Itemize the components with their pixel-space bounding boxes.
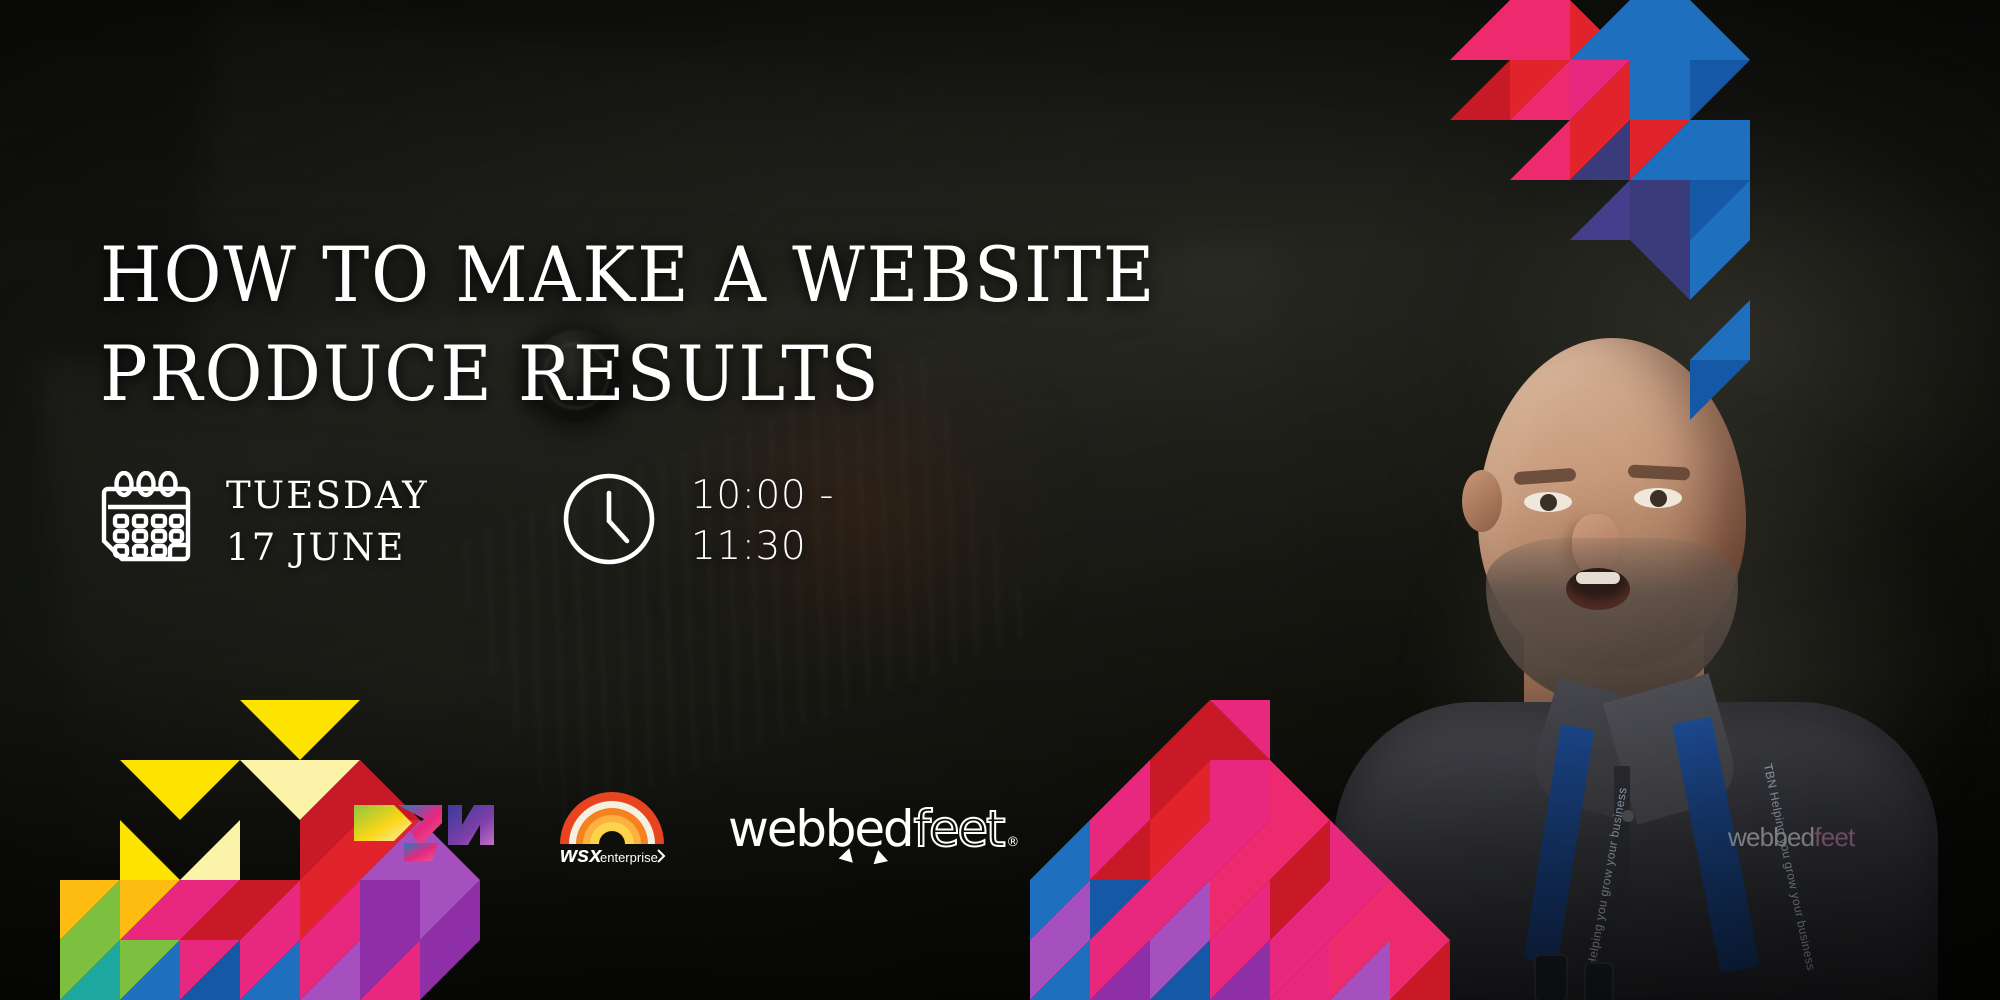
mosaic-triangle (1270, 880, 1330, 940)
mosaic-triangle (1330, 940, 1390, 1000)
mosaic-triangle (1030, 880, 1090, 940)
event-meta: TUESDAY 17 JUNE 10:00 - 11:30 (100, 470, 834, 574)
mosaic-triangle (1150, 760, 1210, 820)
mosaic-triangle (180, 880, 240, 940)
mosaic-cell (1690, 0, 1750, 60)
mosaic-triangle (1450, 60, 1510, 120)
mosaic-cell (120, 880, 180, 940)
mosaic-cell (1690, 240, 1750, 300)
mosaic-cell (240, 940, 300, 1000)
mosaic-triangle (300, 700, 360, 760)
wsx-enterprise-logo: wsx enterprise (552, 790, 672, 868)
mosaic-cell (240, 700, 300, 760)
mosaic-cell (1690, 120, 1750, 180)
mosaic-triangle (1210, 880, 1270, 940)
mosaic-triangle (180, 940, 240, 1000)
mosaic-cell (120, 940, 180, 1000)
event-date: TUESDAY 17 JUNE (100, 470, 429, 574)
mosaic-cell (1210, 760, 1270, 820)
mosaic-cell (1570, 120, 1630, 180)
mosaic-triangle (1570, 60, 1630, 120)
mosaic-cell (300, 820, 360, 880)
mosaic-triangle (1210, 820, 1270, 880)
mosaic-cell (240, 880, 300, 940)
mosaic-cell (1030, 880, 1090, 940)
mosaic-triangle (1030, 940, 1090, 1000)
mosaic-cell (1510, 60, 1570, 120)
mosaic-cell (420, 880, 480, 940)
mosaic-cell (1390, 940, 1450, 1000)
mosaic-triangle (1510, 120, 1570, 180)
mosaic-triangle (1390, 940, 1450, 1000)
mosaic-triangle (1210, 940, 1270, 1000)
mosaic-cell (1270, 760, 1330, 820)
mosaic-cell (1330, 880, 1390, 940)
mosaic-triangle (1630, 240, 1690, 300)
mosaic-triangle (1690, 60, 1750, 120)
mosaic-cell (1150, 760, 1210, 820)
mosaic-cell (1690, 60, 1750, 120)
mosaic-triangle (300, 880, 360, 940)
mosaic-cell (1510, 120, 1570, 180)
mosaic-triangle (420, 940, 480, 1000)
mosaic-triangle (1690, 360, 1750, 420)
mosaic-cell (420, 940, 480, 1000)
mosaic-cell (1090, 880, 1150, 940)
mosaic-triangle (1630, 120, 1690, 180)
mosaic-triangle (120, 760, 180, 820)
mosaic-cell (1270, 940, 1330, 1000)
mosaic-triangle (1570, 120, 1630, 180)
mosaic-cell (1150, 820, 1210, 880)
mosaic-triangle (1690, 240, 1750, 300)
mosaic-triangle (1210, 700, 1270, 760)
clock-icon (561, 471, 657, 572)
event-date-text: TUESDAY 17 JUNE (226, 470, 429, 574)
mosaic-triangle (360, 940, 420, 1000)
event-title: HOW TO MAKE A WEBSITE PRODUCE RESULTS (100, 226, 1067, 424)
event-time: 10:00 - 11:30 (561, 470, 834, 573)
event-time-text: 10:00 - 11:30 (691, 470, 834, 573)
mosaic-triangle (1570, 0, 1630, 60)
mosaic-triangle (120, 880, 180, 940)
dsm-logo (352, 791, 496, 867)
mosaic-triangle (60, 880, 120, 940)
mosaic-cell (1270, 880, 1330, 940)
mosaic-cell (360, 880, 420, 940)
svg-text:enterprise: enterprise (600, 850, 658, 865)
mosaic-cell (1690, 180, 1750, 240)
mosaic-triangle (360, 880, 420, 940)
mosaic-cell (1030, 940, 1090, 1000)
mosaic-cell (1630, 60, 1690, 120)
mosaic-triangle (1330, 820, 1390, 880)
event-banner: Helping you grow your business TBN Helpi… (0, 0, 2000, 1000)
mosaic-cell (120, 760, 180, 820)
webbedfeet-solid: webbed (728, 800, 912, 858)
mosaic-cell (60, 880, 120, 940)
mosaic-cell (1210, 880, 1270, 940)
mosaic-triangle (1510, 60, 1570, 120)
mosaic-triangle (1150, 700, 1210, 760)
mosaic-triangle (240, 760, 300, 820)
mosaic-cell (300, 760, 360, 820)
mosaic-cell (1630, 180, 1690, 240)
event-date-value: 17 JUNE (226, 522, 429, 574)
mosaic-triangle (1270, 820, 1330, 880)
mosaic-triangle (1210, 760, 1270, 820)
calendar-icon (100, 471, 192, 572)
mosaic-cell (180, 760, 240, 820)
mosaic-cell (180, 880, 240, 940)
mosaic-triangle (1150, 940, 1210, 1000)
mosaic-cell (1630, 120, 1690, 180)
mosaic-cell (1090, 940, 1150, 1000)
mosaic-triangle (1090, 820, 1150, 880)
mosaic-cell (1450, 0, 1510, 60)
mosaic-triangle (1390, 880, 1450, 940)
mosaic-triangle (180, 820, 240, 880)
mosaic-cell (1630, 240, 1690, 300)
mosaic-cell (300, 700, 360, 760)
mosaic-cell (360, 940, 420, 1000)
svg-text:wsx: wsx (560, 842, 602, 867)
mosaic-triangle (1690, 0, 1750, 60)
mosaic-cell (60, 940, 120, 1000)
mosaic-triangle (1510, 0, 1570, 60)
event-time-end: 11:30 (691, 521, 834, 572)
mosaic-triangle (240, 700, 300, 760)
mosaic-triangle (1630, 180, 1690, 240)
mosaic-cell (1150, 880, 1210, 940)
mosaic-cell (1210, 700, 1270, 760)
mosaic-cell (1330, 940, 1390, 1000)
mosaic-cell (1330, 820, 1390, 880)
mosaic-cell (240, 760, 300, 820)
mosaic-cell (1630, 0, 1690, 60)
mosaic-cell (1390, 880, 1450, 940)
event-day-of-week: TUESDAY (226, 470, 429, 522)
mosaic-cell (1090, 820, 1150, 880)
mosaic-cell (120, 820, 180, 880)
mosaic-cell (1690, 360, 1750, 420)
mosaic-cell (1270, 820, 1330, 880)
mosaic-triangle (1030, 820, 1090, 880)
webbedfeet-logo: webbedfeet® (728, 800, 1017, 858)
mosaic-cell (300, 880, 360, 940)
event-title-line-1: HOW TO MAKE A WEBSITE (100, 226, 1067, 325)
mosaic-triangle (1090, 880, 1150, 940)
mosaic-triangle (1630, 0, 1690, 60)
mosaic-cell (1150, 700, 1210, 760)
mosaic-triangle (420, 880, 480, 940)
mosaic-cell (1030, 820, 1090, 880)
mosaic-cell (1690, 300, 1750, 360)
mosaic-cell (1450, 60, 1510, 120)
mosaic-cell (1510, 0, 1570, 60)
mosaic-triangle (1630, 60, 1690, 120)
mosaic-cell (300, 940, 360, 1000)
mosaic-cell (1570, 60, 1630, 120)
mosaic-cell (1210, 820, 1270, 880)
mosaic-triangle (1150, 820, 1210, 880)
mosaic-triangle (180, 760, 240, 820)
mosaic-triangle (1330, 880, 1390, 940)
webbedfeet-outline: feet (913, 800, 1003, 858)
event-time-start: 10:00 - (691, 470, 834, 521)
mosaic-triangle (1090, 940, 1150, 1000)
mosaic-triangle (300, 760, 360, 820)
mosaic-cell (180, 820, 240, 880)
mosaic-cell (1570, 180, 1630, 240)
partner-logos: wsx enterprise webbedfeet® (352, 790, 1017, 868)
mosaic-triangle (120, 940, 180, 1000)
mosaic-triangle (1690, 120, 1750, 180)
webbedfeet-trademark: ® (1006, 835, 1017, 850)
mosaic-cell (1210, 940, 1270, 1000)
mosaic-triangle (1450, 0, 1510, 60)
mosaic-triangle (300, 820, 360, 880)
mosaic-triangle (1690, 180, 1750, 240)
mosaic-triangle (1570, 180, 1630, 240)
mosaic-cell (1570, 0, 1630, 60)
mosaic-triangle (1690, 300, 1750, 360)
mosaic-cell (1150, 940, 1210, 1000)
mosaic-triangle (120, 820, 180, 880)
mosaic-triangle (240, 940, 300, 1000)
mosaic-triangle (300, 940, 360, 1000)
event-title-line-2: PRODUCE RESULTS (100, 325, 1067, 424)
mosaic-cell (1090, 760, 1150, 820)
mosaic-triangle (240, 880, 300, 940)
mosaic-triangle (1150, 880, 1210, 940)
mosaic-triangle (60, 940, 120, 1000)
mosaic-triangle (1270, 760, 1330, 820)
mosaic-triangle (1090, 760, 1150, 820)
mosaic-triangle (1270, 940, 1330, 1000)
mosaic-cell (180, 940, 240, 1000)
